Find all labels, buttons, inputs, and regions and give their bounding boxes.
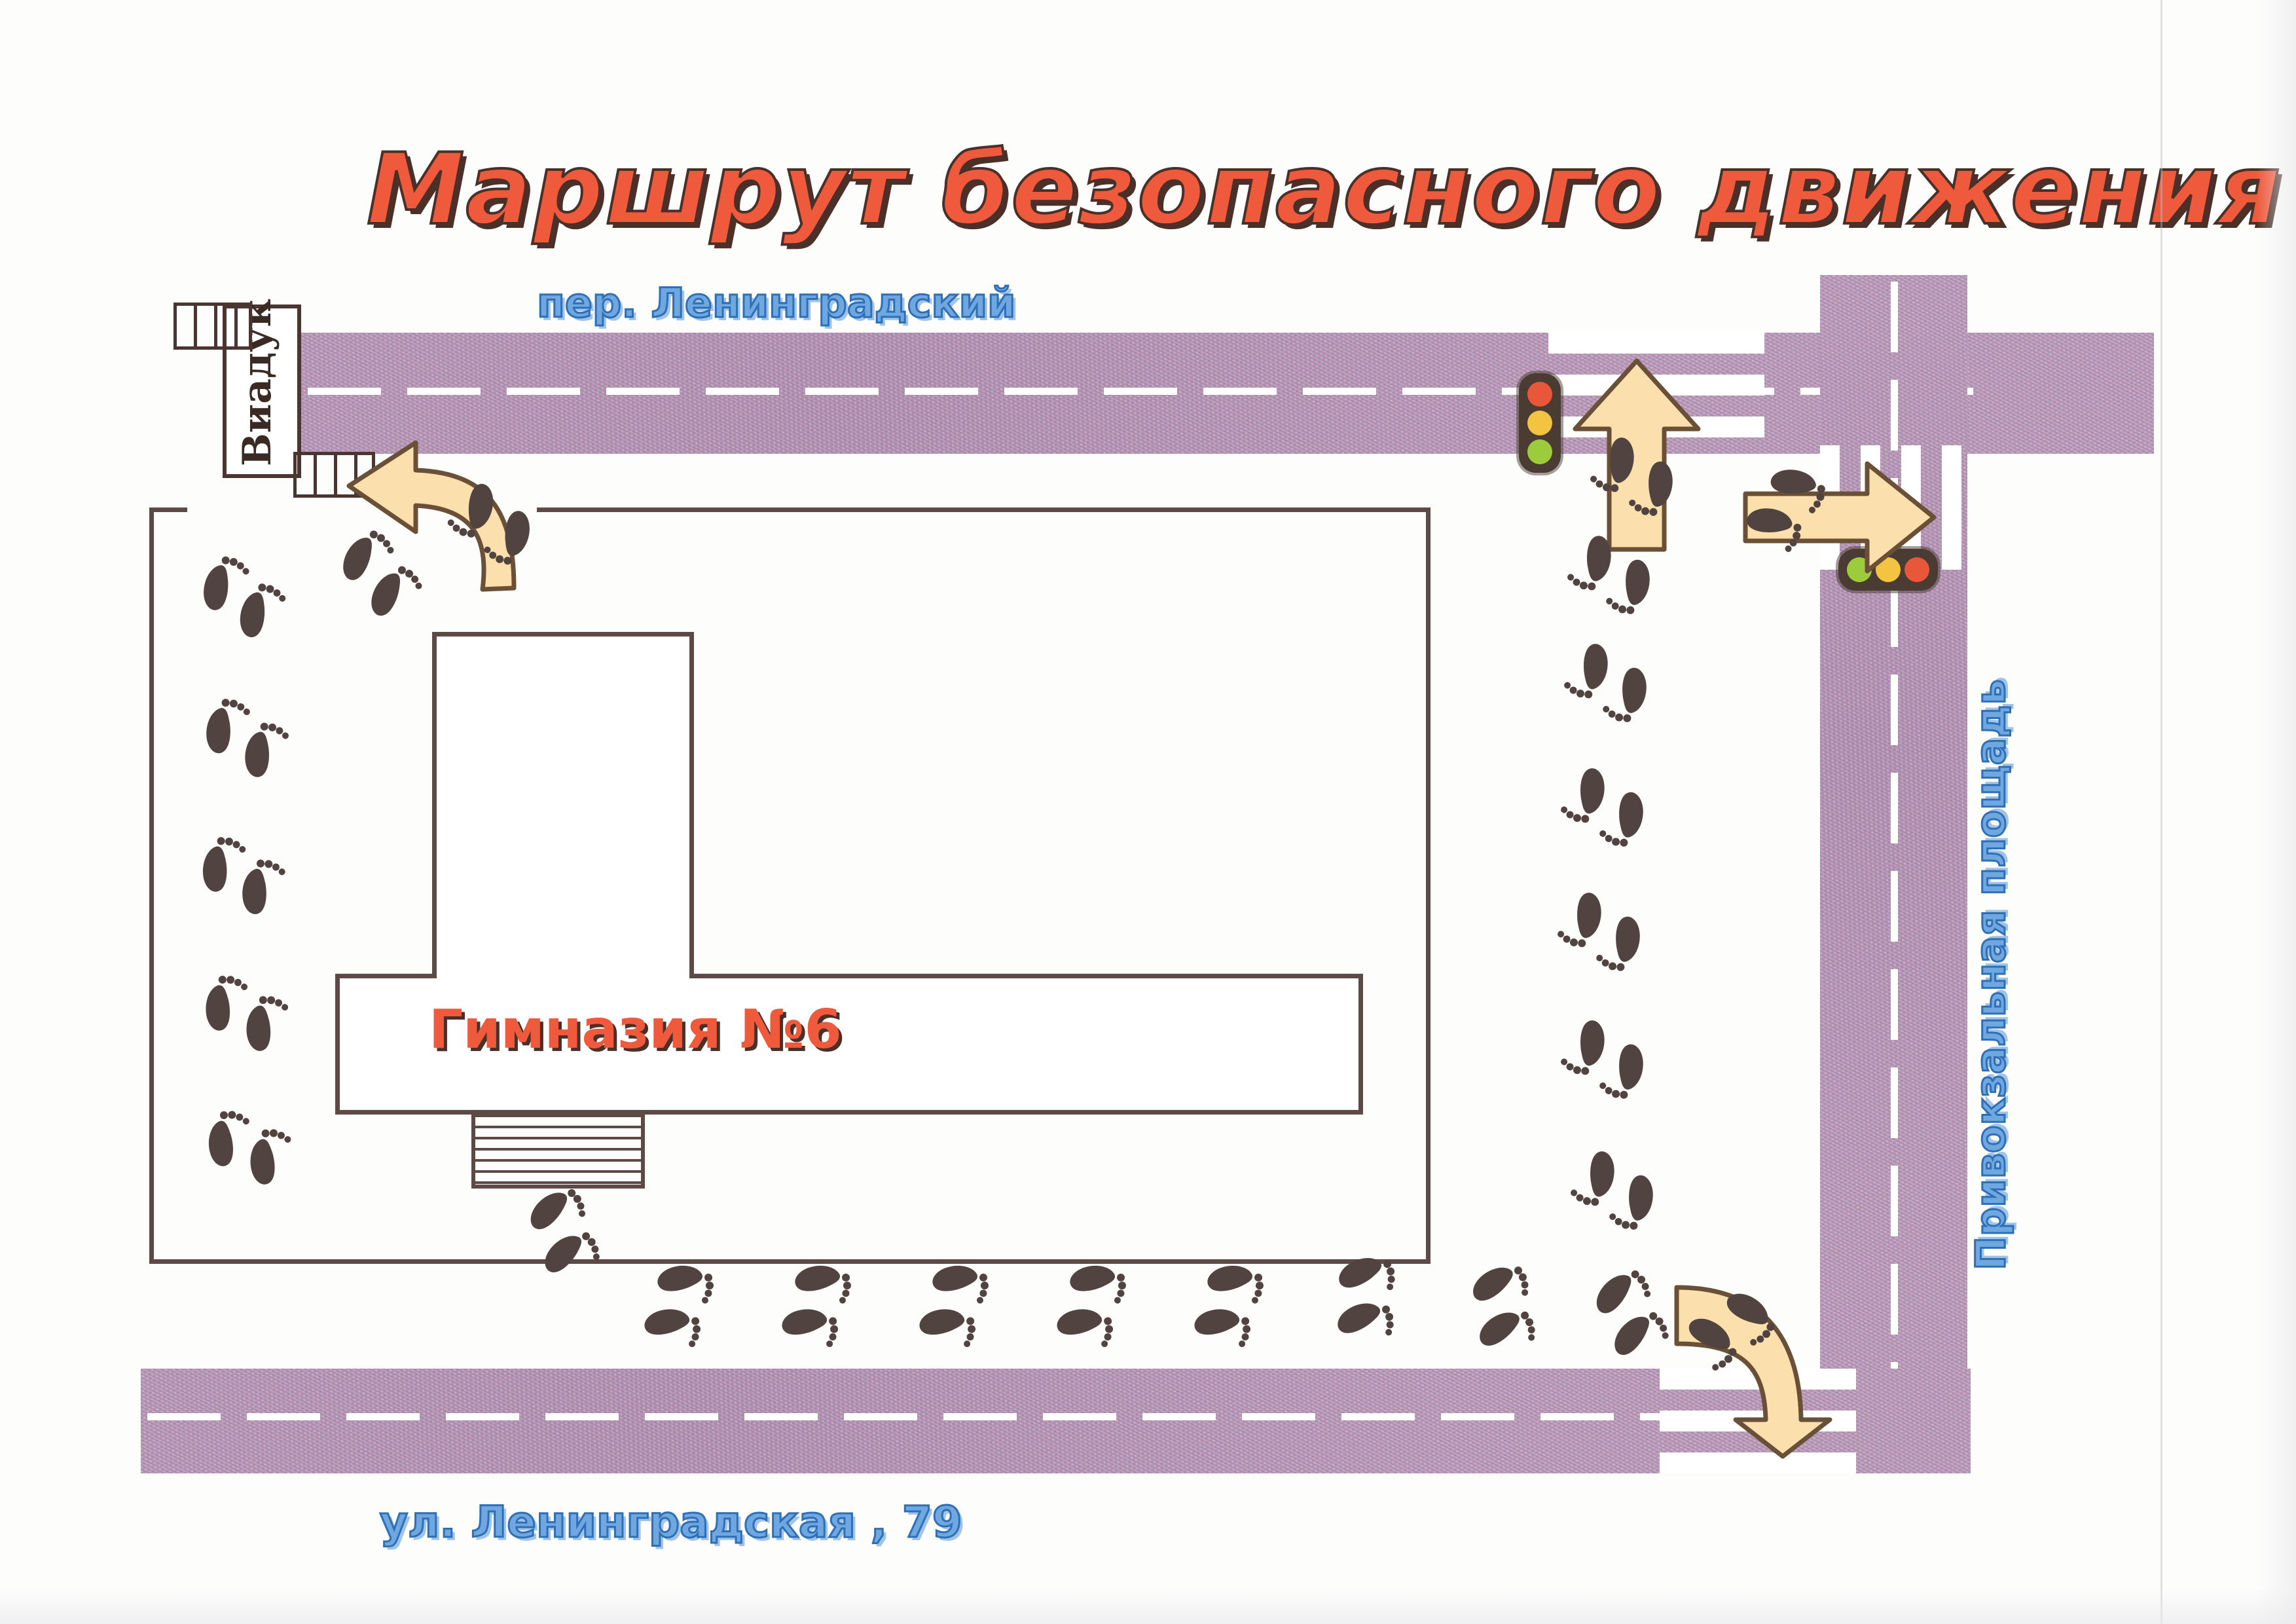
- footprint-pair: [509, 1177, 617, 1292]
- footprint-pair: [1322, 1249, 1409, 1352]
- footprint-pair: [1548, 756, 1659, 855]
- footprint-pair: [190, 690, 301, 789]
- school-building-joint: [437, 971, 689, 980]
- viaduct-stairs-upper: [173, 303, 252, 350]
- grounds-fence-left: [149, 507, 154, 1264]
- footprint-pair: [1552, 631, 1662, 730]
- road-center-dash-bottom: [147, 1413, 1823, 1420]
- footprint-pair: [1453, 1254, 1552, 1365]
- school-building-north-wing: [432, 632, 694, 979]
- footprint-pair: [1558, 1139, 1669, 1238]
- safe-route-map: Виадук Гимназия №6: [0, 0, 2296, 1624]
- footprint-pair: [196, 1105, 301, 1194]
- footprint-pair: [192, 969, 299, 1061]
- pedestrian-light-north-crossing[interactable]: [1519, 373, 1561, 473]
- footprint-pair: [1548, 1008, 1659, 1107]
- street-label-privokzalnaya-square: Привокзальная площадь: [1971, 679, 2011, 1270]
- footprint-pair: [187, 829, 297, 926]
- page-title: Маршрут безопасного движения: [367, 141, 1938, 239]
- traffic-bulb-green: [1527, 439, 1552, 464]
- school-building-label: Гимназия №6: [429, 1003, 842, 1057]
- traffic-bulb-yellow: [1527, 411, 1552, 435]
- footprint-pair: [1545, 880, 1656, 979]
- grounds-fence-top: [537, 507, 1430, 512]
- footprint-pair: [775, 1257, 855, 1355]
- grounds-fence-right: [1426, 507, 1430, 1264]
- grounds-fence-top-left: [149, 507, 187, 512]
- footprint-pair: [1050, 1257, 1130, 1355]
- footprint-pair: [913, 1257, 993, 1355]
- street-label-lenigradskaya-street: ул. Ленинградская , 79: [380, 1501, 962, 1544]
- footprint-pair: [1575, 1258, 1686, 1375]
- scan-edge-bottom: [0, 1588, 2296, 1624]
- street-label-lenigradsky-lane: пер. Ленинградский: [537, 283, 1015, 323]
- footprint-pair: [1188, 1257, 1267, 1355]
- footprint-pair: [638, 1257, 718, 1355]
- footprint-pair: [185, 547, 299, 652]
- traffic-bulb-red: [1527, 382, 1552, 407]
- school-entrance-steps: [471, 1113, 645, 1189]
